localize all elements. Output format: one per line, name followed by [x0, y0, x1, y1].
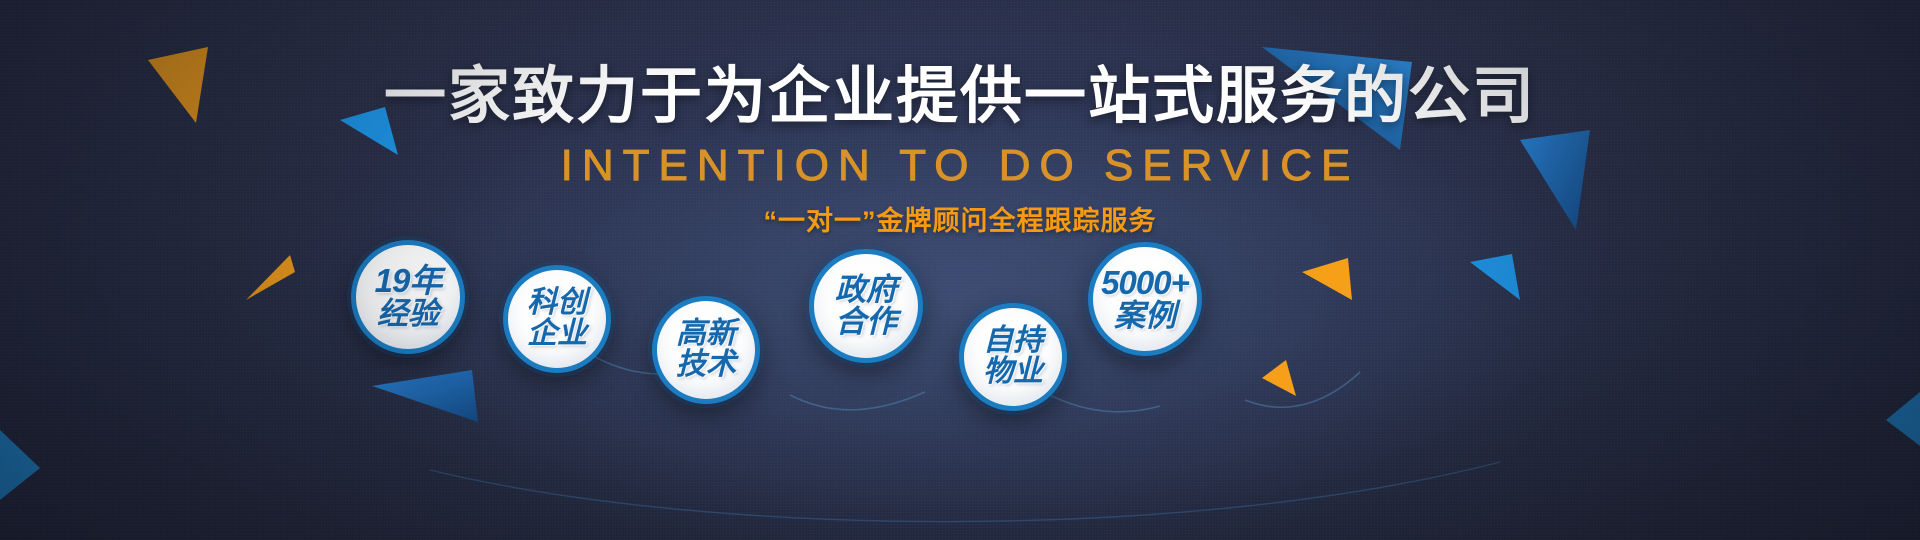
badge-line-1: 5000+ [1101, 266, 1189, 300]
badge-line-2: 技术 [676, 350, 736, 381]
badge-gov-cooperation[interactable]: 政府 合作 [809, 249, 923, 363]
badge-line-1: 自持 [983, 326, 1043, 357]
badge-line-1: 政府 [835, 274, 897, 306]
badge-tech-startup[interactable]: 科创 企业 [503, 265, 611, 373]
badge-line-1: 19年 [375, 264, 442, 298]
badge-line-1: 科创 [527, 288, 587, 319]
feature-badges: 19年 经验 科创 企业 高新 技术 政府 合作 自持 物业 5000+ 案例 [0, 0, 1920, 540]
badge-high-tech[interactable]: 高新 技术 [652, 296, 760, 404]
badge-line-2: 经验 [377, 298, 439, 330]
badge-experience[interactable]: 19年 经验 [351, 240, 465, 354]
badge-line-2: 物业 [983, 357, 1043, 388]
badge-line-2: 案例 [1114, 300, 1176, 332]
badge-line-2: 合作 [835, 306, 897, 338]
badge-line-2: 企业 [527, 319, 587, 350]
badge-own-property[interactable]: 自持 物业 [959, 303, 1067, 411]
badge-cases[interactable]: 5000+ 案例 [1088, 242, 1202, 356]
badge-line-1: 高新 [676, 319, 736, 350]
hero-banner: 一家致力于为企业提供一站式服务的公司 INTENTION TO DO SERVI… [0, 0, 1920, 540]
